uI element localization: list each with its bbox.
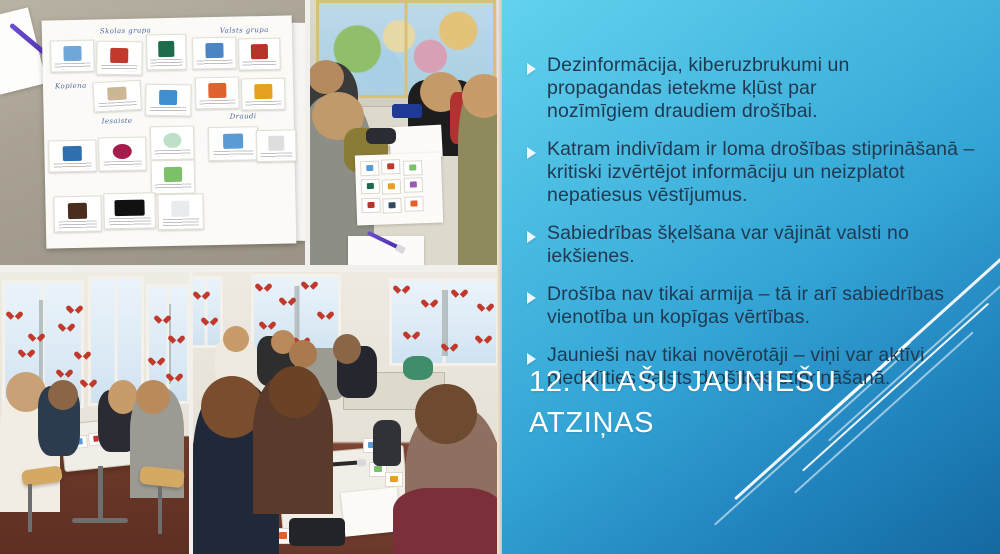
poster-card [48, 140, 97, 173]
mini-card-thumb [410, 200, 418, 207]
group-label-1: Skolas grupa [100, 26, 151, 35]
student-head [462, 74, 500, 118]
poster-scene: Skolas grupa Valsts grupa Kopiena Iesais… [0, 0, 305, 265]
mini-card [360, 161, 380, 177]
student-head [269, 366, 321, 418]
poster-card [146, 34, 187, 71]
student-head [48, 380, 78, 410]
poster-card [103, 192, 156, 229]
bullet-item-4: Drošība nav tikai armija – tā ir arī sab… [524, 283, 984, 329]
poster-card [192, 37, 237, 70]
card-caption [260, 152, 292, 159]
paper-heart [445, 342, 454, 350]
card-thumb [113, 144, 133, 160]
mini-card-thumb [374, 466, 381, 473]
page-title: 12. KLAŠU JAUNIEŠU ATZIŅAS [529, 362, 859, 444]
pencil-case [366, 128, 396, 144]
poster-card [157, 193, 204, 230]
folder [392, 104, 422, 118]
poster-card [208, 126, 259, 161]
bullet-item-3: Sabiedrības šķelšana var vājināt valsti … [524, 222, 984, 268]
card-thumb [208, 83, 226, 98]
mini-card [381, 159, 401, 175]
classroom-scene-a [0, 272, 189, 554]
poster-sheet-main: Skolas grupa Valsts grupa Kopiena Iesais… [42, 15, 297, 248]
card-caption [150, 106, 187, 113]
card-thumb [63, 46, 81, 61]
paper-heart [425, 298, 434, 306]
card-thumb [223, 133, 243, 149]
mini-card [385, 472, 403, 487]
card-thumb [107, 87, 127, 101]
mini-card-thumb [367, 183, 375, 190]
mini-card [404, 177, 424, 193]
card-caption [103, 161, 142, 168]
table-base [72, 518, 128, 523]
map-classroom-scene [310, 0, 500, 265]
card-caption [155, 150, 190, 157]
paper-heart [205, 316, 214, 324]
students-at-map-photo [310, 0, 500, 265]
paper-heart [32, 332, 41, 340]
bullet-list: Dezinformācija, kiberuzbrukumi un propag… [524, 54, 984, 405]
poster-card [195, 77, 240, 110]
bullet-text-2: Katram indivīdam ir loma drošības stipri… [547, 138, 977, 207]
mini-card [382, 198, 402, 214]
mini-card-thumb [387, 163, 395, 170]
poster-card [150, 125, 195, 160]
paper-heart [22, 348, 31, 356]
paper-heart [263, 320, 272, 328]
card-thumb [114, 200, 144, 217]
card-thumb [205, 43, 223, 58]
paper-heart [62, 322, 71, 330]
water-bottle [373, 420, 401, 466]
content-panel: Dezinformācija, kiberuzbrukumi un propag… [502, 0, 1000, 554]
mini-card-thumb [409, 164, 417, 171]
paper-heart [397, 284, 406, 292]
paper-heart [60, 368, 69, 376]
mini-card [403, 160, 423, 176]
paper-heart [259, 282, 268, 290]
group-label-4: Iesaiste [102, 117, 133, 126]
card-caption [98, 101, 137, 109]
paper-heart [407, 330, 416, 338]
classroom-scene-b [193, 272, 500, 554]
mini-card-thumb [279, 532, 287, 539]
card-thumb [63, 146, 83, 161]
paper-heart [170, 372, 179, 380]
card-thumb [171, 201, 190, 218]
mini-card [361, 179, 381, 195]
card-caption [101, 65, 138, 72]
card-thumb [254, 84, 272, 99]
classroom-round-table-photo [0, 272, 189, 554]
poster-card [53, 195, 102, 232]
card-thumb [68, 203, 88, 220]
photo-collage: Skolas grupa Valsts grupa Kopiena Iesais… [0, 0, 500, 554]
paper-heart [152, 356, 161, 364]
student-head [136, 380, 170, 414]
mini-card-thumb [367, 202, 375, 209]
card-thumb [163, 133, 181, 149]
card-caption [197, 59, 232, 66]
card-thumb [110, 48, 129, 64]
triangle-bullet-icon [527, 147, 536, 159]
bullet-text-1: Dezinformācija, kiberuzbrukumi un propag… [547, 54, 877, 123]
poster-card [98, 136, 147, 171]
card-caption [162, 219, 199, 227]
card-caption [243, 60, 277, 67]
poster-card [145, 84, 191, 117]
bullet-text-4: Drošība nav tikai armija – tā ir arī sab… [547, 283, 977, 329]
poster-card [92, 80, 142, 113]
triangle-bullet-icon [527, 63, 536, 75]
card-thumb [158, 41, 174, 58]
paper-heart [158, 314, 167, 322]
triangle-bullet-icon [527, 292, 536, 304]
paper-heart [455, 288, 464, 296]
student-head [333, 334, 361, 364]
plant [403, 356, 433, 380]
table-leg [98, 466, 103, 520]
paper-heart [197, 290, 206, 298]
chair-leg [28, 484, 32, 532]
mini-card [361, 198, 381, 214]
card-caption [53, 162, 92, 169]
poster-with-cards-photo: Skolas grupa Valsts grupa Kopiena Iesais… [0, 0, 305, 265]
card-caption [155, 184, 190, 191]
mini-card [404, 196, 424, 212]
poster-card [238, 38, 281, 71]
group-label-5: Draudi [230, 112, 257, 121]
card-caption [246, 100, 281, 107]
presentation-slide: Skolas grupa Valsts grupa Kopiena Iesais… [0, 0, 1000, 554]
card-layout-sheet [355, 153, 443, 226]
bullet-text-3: Sabiedrības šķelšana var vājināt valsti … [547, 222, 947, 268]
card-caption [55, 62, 90, 69]
paper-heart [70, 304, 79, 312]
card-thumb [159, 90, 178, 105]
chair-leg [158, 486, 162, 534]
mini-card [382, 179, 402, 195]
student [393, 488, 500, 554]
mini-card-thumb [388, 183, 396, 190]
card-thumb [164, 166, 182, 182]
paper-heart [10, 310, 19, 318]
paper-heart [321, 310, 330, 318]
bullet-item-2: Katram indivīdam ir loma drošības stipri… [524, 138, 984, 207]
phone-and-case [289, 518, 345, 546]
paper-heart [172, 334, 181, 342]
paper-heart [78, 350, 87, 358]
card-caption [200, 99, 235, 106]
paper-heart [283, 296, 292, 304]
poster-card [50, 40, 95, 73]
card-caption [151, 59, 183, 66]
poster-card [241, 78, 286, 111]
student-head [289, 340, 317, 368]
mini-card-thumb [388, 202, 396, 209]
mini-card-thumb [390, 476, 397, 483]
bullet-item-1: Dezinformācija, kiberuzbrukumi un propag… [524, 54, 984, 123]
card-caption [109, 218, 151, 226]
paper-heart [305, 280, 314, 288]
paper-heart [481, 302, 490, 310]
classroom-group-work-photo [193, 272, 500, 554]
poster-card [256, 129, 297, 162]
mini-card-thumb [366, 165, 374, 172]
mini-card-thumb [409, 181, 417, 188]
paper-heart [479, 334, 488, 342]
card-caption [213, 150, 253, 157]
student-head [415, 384, 477, 444]
paper-heart [84, 378, 93, 386]
poster-card [151, 159, 196, 194]
group-label-2: Valsts grupa [220, 26, 269, 35]
poster-card [96, 41, 142, 76]
card-caption [59, 221, 98, 229]
card-thumb [268, 136, 284, 151]
group-label-3: Kopiena [55, 82, 87, 91]
student-head [223, 326, 249, 352]
window [193, 276, 223, 348]
card-thumb [251, 44, 268, 59]
triangle-bullet-icon [527, 231, 536, 243]
